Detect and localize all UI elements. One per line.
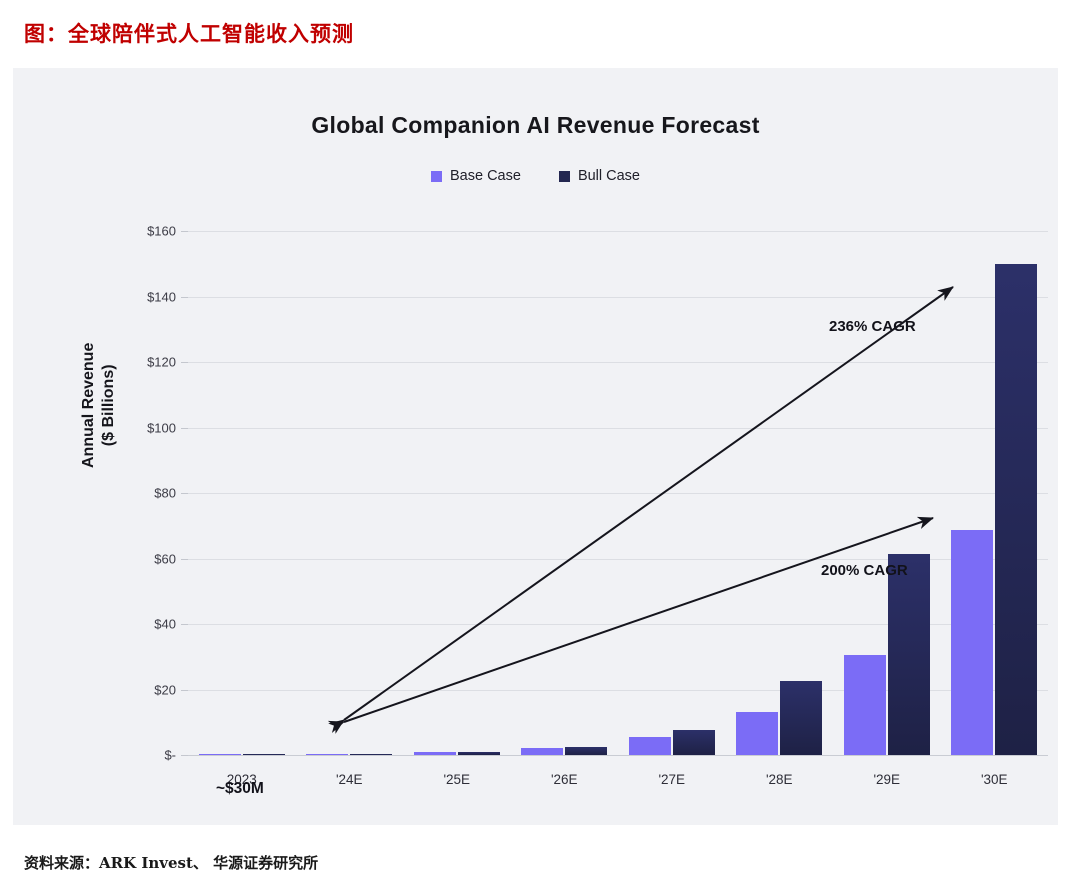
bar-base-case[interactable] xyxy=(414,752,456,755)
y-tick-mark xyxy=(181,690,188,691)
legend-item-base-case[interactable]: Base Case xyxy=(431,168,521,184)
y-axis-title: Annual Revenue ($ Billions) xyxy=(79,343,119,468)
y-axis-title-line-2: ($ Billions) xyxy=(99,343,119,468)
bar-group: '29E xyxy=(833,231,941,755)
y-tick-mark xyxy=(181,231,188,232)
plot-area: $-$20$40$60$80$100$120$140$1602023'24E'2… xyxy=(188,231,1048,755)
annotation-origin-value: ~$30M xyxy=(216,780,264,798)
y-tick-mark xyxy=(181,624,188,625)
x-tick-label: '25E xyxy=(403,772,511,787)
legend-swatch-base-case xyxy=(431,171,442,182)
bar-base-case[interactable] xyxy=(521,748,563,755)
legend-swatch-bull-case xyxy=(559,171,570,182)
bar-bull-case[interactable] xyxy=(565,747,607,755)
y-tick-label: $20 xyxy=(154,682,176,697)
legend-label-base-case: Base Case xyxy=(450,168,521,184)
y-tick-mark xyxy=(181,755,188,756)
report-header-title: 图：全球陪伴式人工智能收入预测 xyxy=(24,18,354,48)
y-tick-mark xyxy=(181,297,188,298)
y-tick-label: $100 xyxy=(147,420,176,435)
bar-base-case[interactable] xyxy=(629,737,671,755)
x-tick-label: '26E xyxy=(511,772,619,787)
y-axis-title-line-1: Annual Revenue xyxy=(79,343,99,468)
bar-bull-case[interactable] xyxy=(888,554,930,755)
y-tick-label: $40 xyxy=(154,617,176,632)
bar-group: 2023 xyxy=(188,231,296,755)
bar-base-case[interactable] xyxy=(844,655,886,755)
bar-base-case[interactable] xyxy=(736,712,778,755)
y-tick-mark xyxy=(181,362,188,363)
annotation-base-cagr: 200% CAGR xyxy=(821,562,908,579)
y-tick-label: $140 xyxy=(147,289,176,304)
source-note: 资料来源：ARK Invest、 华源证券研究所 xyxy=(24,852,318,873)
bar-bull-case[interactable] xyxy=(458,752,500,755)
x-tick-label: '24E xyxy=(296,772,404,787)
y-tick-label: $80 xyxy=(154,486,176,501)
chart-panel: Global Companion AI Revenue Forecast Bas… xyxy=(13,68,1058,825)
y-tick-label: $120 xyxy=(147,355,176,370)
x-tick-label: '30E xyxy=(941,772,1049,787)
bar-group: '25E xyxy=(403,231,511,755)
bar-base-case[interactable] xyxy=(306,754,348,756)
x-tick-label: '27E xyxy=(618,772,726,787)
y-tick-mark xyxy=(181,559,188,560)
bar-base-case[interactable] xyxy=(951,530,993,755)
chart-title: Global Companion AI Revenue Forecast xyxy=(13,112,1058,139)
y-tick-label: $60 xyxy=(154,551,176,566)
bar-group: '30E xyxy=(941,231,1049,755)
y-tick-mark xyxy=(181,493,188,494)
legend-item-bull-case[interactable]: Bull Case xyxy=(559,168,640,184)
bar-group: '28E xyxy=(726,231,834,755)
y-tick-label: $- xyxy=(164,748,176,763)
legend-label-bull-case: Bull Case xyxy=(578,168,640,184)
x-tick-label: '29E xyxy=(833,772,941,787)
bar-group: '27E xyxy=(618,231,726,755)
gridline: $- xyxy=(188,755,1048,756)
bar-base-case[interactable] xyxy=(199,754,241,756)
y-tick-mark xyxy=(181,428,188,429)
y-tick-label: $160 xyxy=(147,224,176,239)
bar-group: '24E xyxy=(296,231,404,755)
bar-bull-case[interactable] xyxy=(350,754,392,756)
annotation-bull-cagr: 236% CAGR xyxy=(829,318,916,335)
bar-bull-case[interactable] xyxy=(673,730,715,755)
bar-bull-case[interactable] xyxy=(243,754,285,756)
bar-bull-case[interactable] xyxy=(995,264,1037,755)
bar-group: '26E xyxy=(511,231,619,755)
bar-bull-case[interactable] xyxy=(780,681,822,755)
x-tick-label: '28E xyxy=(726,772,834,787)
chart-legend: Base Case Bull Case xyxy=(13,168,1058,184)
